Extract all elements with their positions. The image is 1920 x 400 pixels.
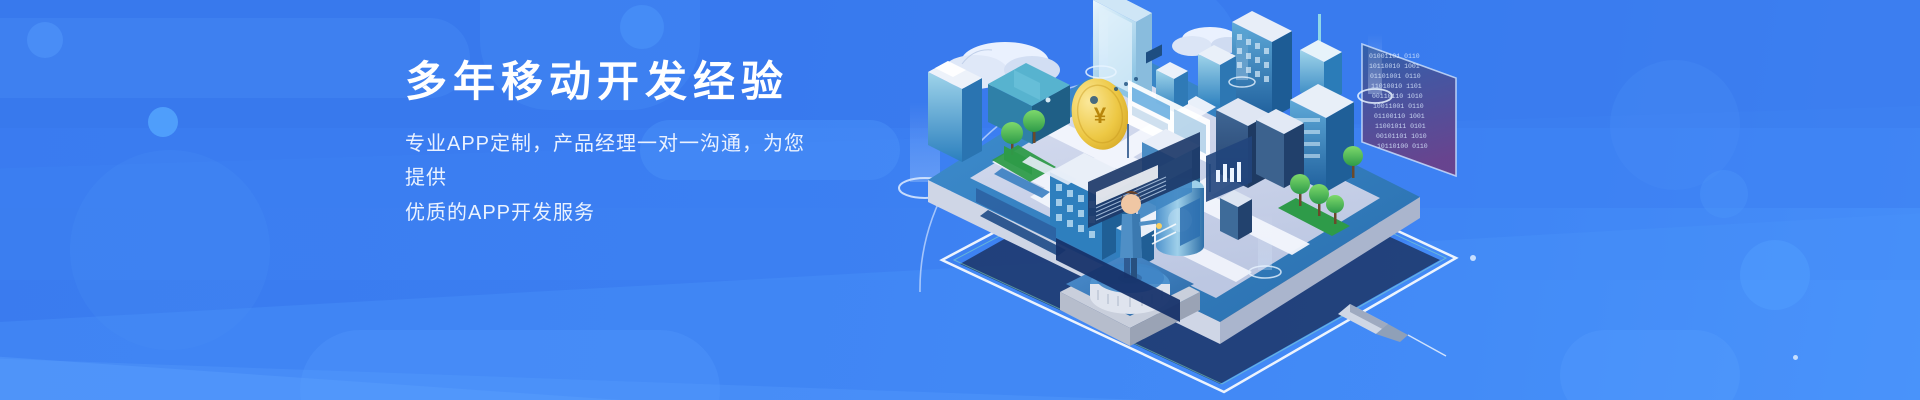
svg-text:00101101 1010: 00101101 1010 xyxy=(1376,133,1427,140)
decorative-circle-large-4 xyxy=(1560,330,1740,400)
decorative-circle-small-1 xyxy=(27,22,63,58)
promo-banner: 多年移动开发经验 专业APP定制，产品经理一对一沟通，为您提供 优质的APP开发… xyxy=(0,0,1920,400)
banner-subtitle: 专业APP定制，产品经理一对一沟通，为您提供 优质的APP开发服务 xyxy=(405,127,825,230)
svg-text:01100110 1001: 01100110 1001 xyxy=(1374,113,1425,120)
svg-text:10110100 0110: 10110100 0110 xyxy=(1377,143,1428,150)
banner-subtitle-line-2: 优质的APP开发服务 xyxy=(405,196,825,230)
decorative-dot-4 xyxy=(1793,355,1798,360)
building-small-a xyxy=(1198,45,1236,108)
decorative-pill-2 xyxy=(300,330,720,400)
decorative-circle-small-5 xyxy=(1700,170,1748,218)
building-tall-left xyxy=(928,61,982,162)
building-box-2 xyxy=(1220,190,1252,240)
stylus-pen xyxy=(1338,304,1446,356)
banner-copy: 多年移动开发经验 专业APP定制，产品经理一对一沟通，为您提供 优质的APP开发… xyxy=(405,58,825,230)
decorative-circle-small-3 xyxy=(620,5,664,49)
isometric-city-illustration: ¥ xyxy=(880,0,1500,400)
decorative-circle-small-2 xyxy=(148,107,178,137)
banner-subtitle-line-1: 专业APP定制，产品经理一对一沟通，为您提供 xyxy=(405,127,825,196)
banner-headline: 多年移动开发经验 xyxy=(405,58,825,105)
decorative-circle-large-1 xyxy=(70,150,270,350)
decorative-circle-small-4 xyxy=(1740,240,1810,310)
svg-text:00110110 1010: 00110110 1010 xyxy=(1372,93,1423,100)
yen-symbol: ¥ xyxy=(1094,103,1107,128)
svg-text:10011001 0110: 10011001 0110 xyxy=(1373,103,1424,110)
decorative-shape-rounded-bar xyxy=(0,18,470,98)
svg-text:11001011 0101: 11001011 0101 xyxy=(1375,123,1426,130)
